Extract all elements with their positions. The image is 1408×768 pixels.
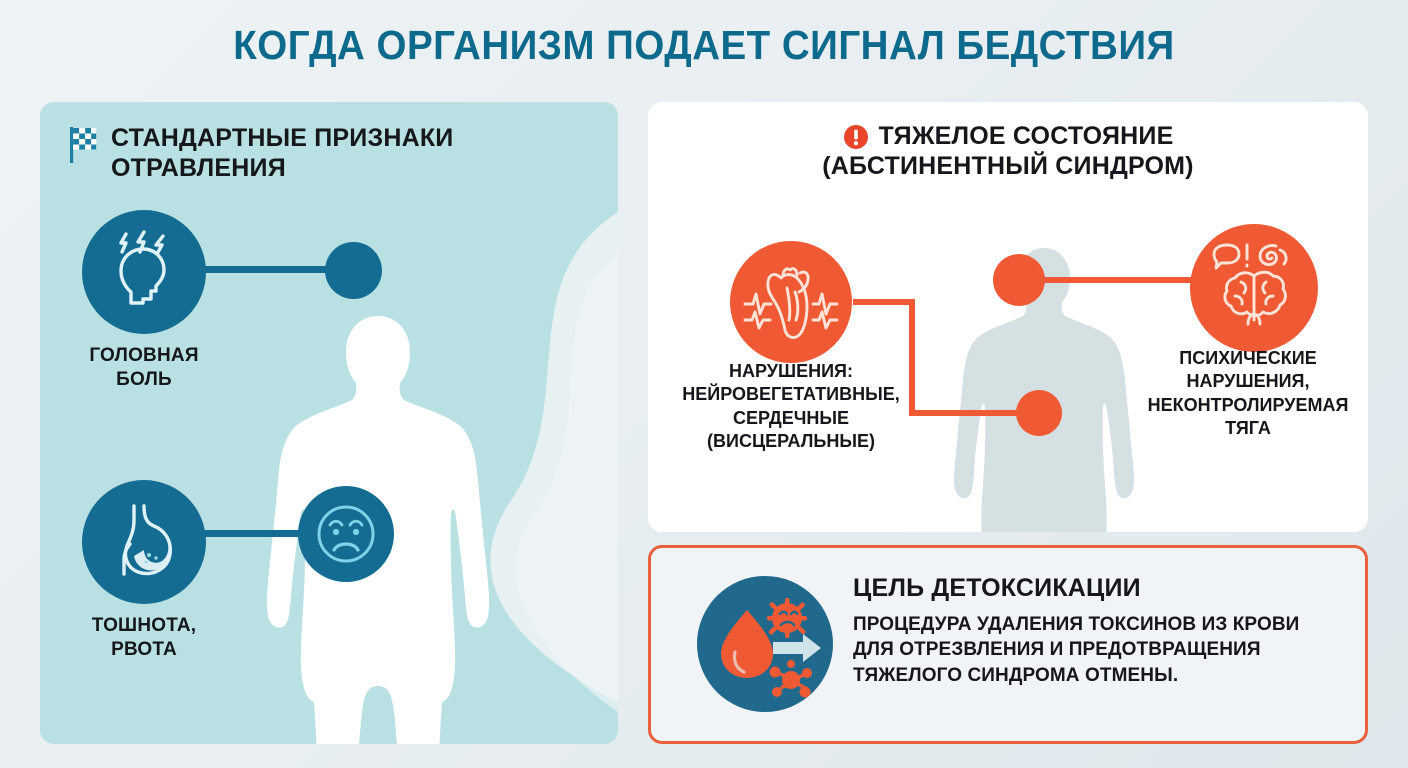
heart-icon-circle[interactable] (730, 241, 852, 363)
blood-drop-detox-icon (695, 574, 835, 714)
body-silhouette-right (951, 244, 1137, 532)
sad-face-icon (310, 498, 382, 570)
warning-exclamation-icon (843, 124, 869, 150)
head-dot-left (325, 242, 382, 299)
brain-psyche-icon (1206, 240, 1302, 336)
left-panel-heading-text: СТАНДАРТНЫЕ ПРИЗНАКИ ОТРАВЛЕНИЯ (111, 124, 453, 183)
sad-face-icon-circle[interactable] (298, 486, 394, 582)
right-heading-line-2: (АБСТИНЕНТНЫЙ СИНДРОМ) (648, 152, 1368, 182)
detox-title: ЦЕЛЬ ДЕТОКСИКАЦИИ (853, 574, 1349, 603)
left-heading-line-1: СТАНДАРТНЫЕ ПРИЗНАКИ (111, 124, 453, 154)
connector-heart-horizontal-top (853, 299, 915, 305)
detox-goal-box: ЦЕЛЬ ДЕТОКСИКАЦИИ ПРОЦЕДУРА УДАЛЕНИЯ ТОК… (648, 545, 1368, 744)
brain-icon-circle[interactable] (1190, 224, 1318, 352)
headache-head-icon (101, 229, 187, 315)
left-panel-heading: СТАНДАРТНЫЕ ПРИЗНАКИ ОТРАВЛЕНИЯ (68, 124, 453, 183)
caption-psychic-disorders: ПСИХИЧЕСКИЕ НАРУШЕНИЯ, НЕКОНТРОЛИРУЕМАЯ … (1128, 347, 1368, 441)
detox-description: ПРОЦЕДУРА УДАЛЕНИЯ ТОКСИНОВ ИЗ КРОВИ ДЛЯ… (853, 612, 1349, 688)
left-heading-line-2: ОТРАВЛЕНИЯ (111, 154, 453, 184)
left-panel-standard-signs: СТАНДАРТНЫЕ ПРИЗНАКИ ОТРАВЛЕНИЯ ГОЛОВНАЯ… (40, 102, 618, 744)
connector-head-to-brain (1038, 277, 1203, 283)
connector-headache-to-head (190, 266, 340, 273)
checkered-flag-icon (68, 125, 98, 163)
page-title: КОГДА ОРГАНИЗМ ПОДАЕТ СИГНАЛ БЕДСТВИЯ (42, 22, 1366, 69)
chest-dot-right (1016, 390, 1062, 436)
caption-headache: ГОЛОВНАЯ БОЛЬ (64, 344, 224, 392)
right-panel-heading: ТЯЖЕЛОЕ СОСТОЯНИЕ (АБСТИНЕНТНЫЙ СИНДРОМ) (648, 122, 1368, 181)
headache-icon-circle[interactable] (82, 210, 206, 334)
stomach-icon-circle[interactable] (82, 480, 206, 604)
caption-visceral-disorders: НАРУШЕНИЯ: НЕЙРОВЕГЕТАТИВНЫЕ, СЕРДЕЧНЫЕ … (660, 360, 922, 454)
heart-ecg-icon (743, 258, 839, 346)
right-panel-severe-condition: ТЯЖЕЛОЕ СОСТОЯНИЕ (АБСТИНЕНТНЫЙ СИНДРОМ) (648, 102, 1368, 532)
detox-text-block: ЦЕЛЬ ДЕТОКСИКАЦИИ ПРОЦЕДУРА УДАЛЕНИЯ ТОК… (853, 574, 1349, 688)
caption-nausea: ТОШНОТА, РВОТА (64, 614, 224, 662)
right-heading-line-1: ТЯЖЕЛОЕ СОСТОЯНИЕ (879, 122, 1174, 152)
stomach-icon (100, 498, 188, 586)
